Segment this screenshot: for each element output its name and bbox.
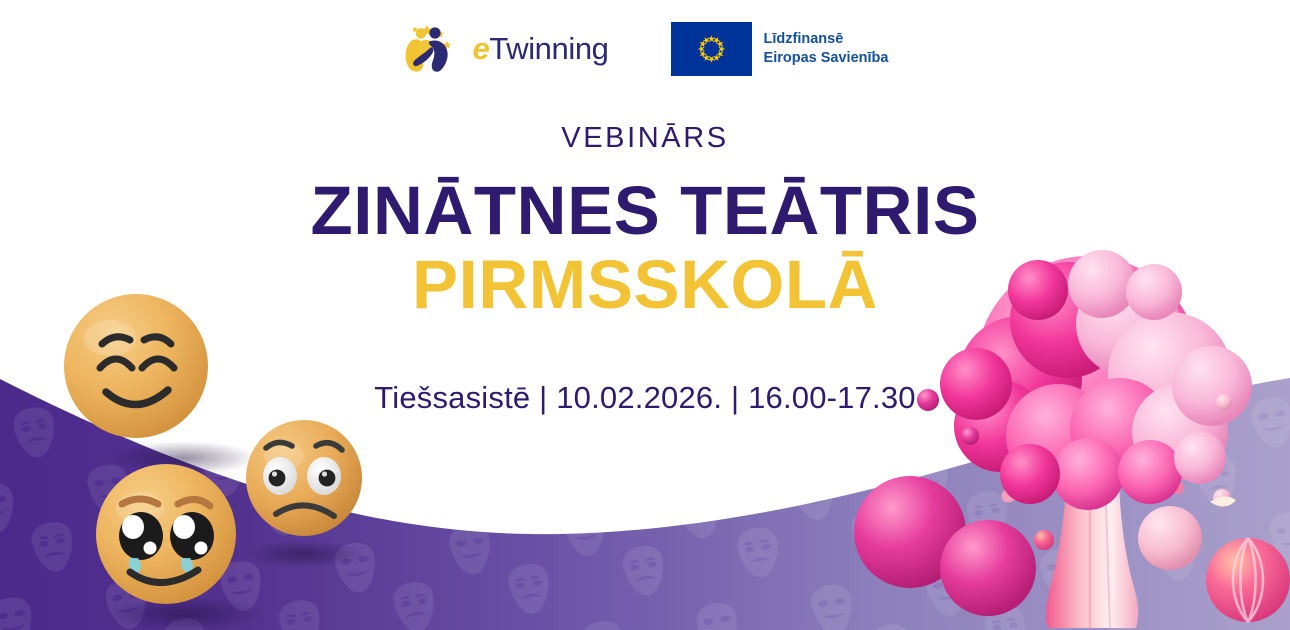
logo-row: eTwinning: [0, 22, 1290, 76]
etwinning-figures-stars-icon: [402, 24, 464, 74]
pink-sphere-icon: [940, 520, 1036, 616]
pleading-face-teary-eyes-emoji: [96, 464, 236, 604]
page-title-line-2: PIRMSSKOLĀ: [0, 249, 1290, 321]
eu-cofunding-logo: Līdzfinansē Eiropas Savienība: [671, 22, 889, 76]
striped-pink-sphere-icon: [1206, 538, 1290, 622]
etwinning-wordmark: eTwinning: [473, 31, 609, 67]
webinar-promo-banner: eTwinning: [0, 0, 1290, 630]
headline-block: VEBINĀRS ZINĀTNES TEĀTRIS PIRMSSKOLĀ Tie…: [0, 124, 1290, 416]
worried-face-emoji: [246, 420, 362, 536]
eu-flag-icon: [671, 22, 752, 76]
page-title-line-1: ZINĀTNES TEĀTRIS: [0, 175, 1290, 247]
pink-sphere-icon: [1034, 530, 1054, 550]
etwinning-logo: eTwinning: [402, 24, 609, 74]
event-kicker: VEBINĀRS: [0, 124, 1290, 153]
eu-text-line2: Eiropas Savienība: [764, 49, 889, 68]
eu-cofunding-text: Līdzfinansē Eiropas Savienība: [764, 30, 889, 67]
eu-text-line1: Līdzfinansē: [764, 30, 889, 49]
pale-pink-sphere-icon: [1138, 506, 1202, 570]
etwinning-word-e: e: [473, 31, 490, 66]
pink-sphere-icon: [961, 427, 979, 445]
etwinning-word-rest: Twinning: [489, 31, 608, 66]
event-meta: Tiešsasistē | 10.02.2026. | 16.00-17.30: [0, 380, 1290, 416]
